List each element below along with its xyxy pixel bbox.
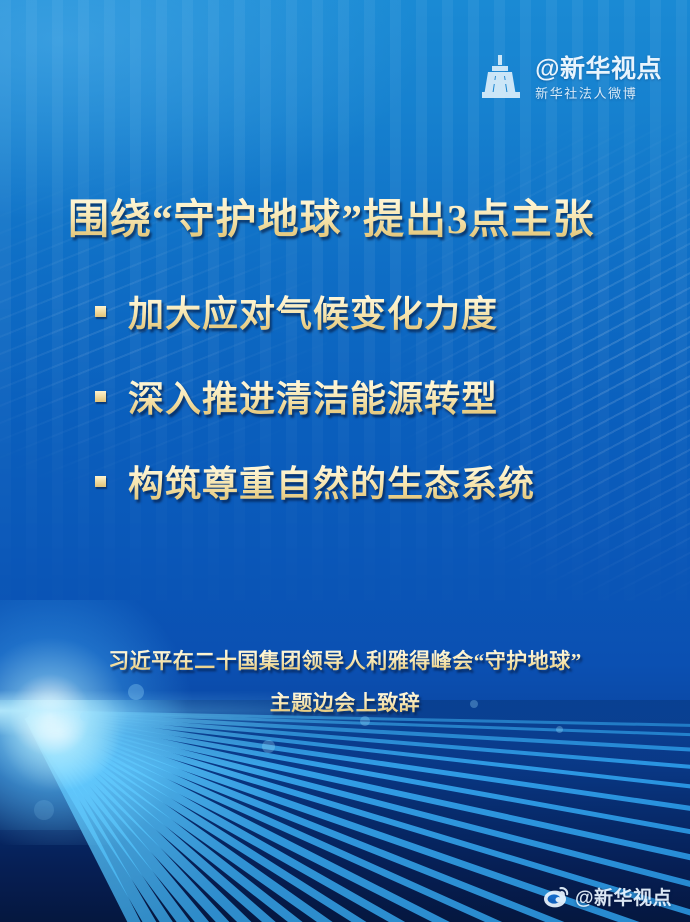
list-item: 加大应对气候变化力度 [95, 288, 615, 334]
caption-block: 习近平在二十国集团领导人利雅得峰会“守护地球” 主题边会上致辞 [0, 645, 690, 729]
square-bullet-icon [95, 476, 106, 487]
logo-text-block: @新华视点 新华社法人微博 [535, 57, 662, 100]
bullet-list: 加大应对气候变化力度 深入推进清洁能源转型 构筑尊重自然的生态系统 [95, 288, 615, 543]
xinhua-tower-logo-icon [474, 52, 526, 104]
list-item-label: 构筑尊重自然的生态系统 [128, 455, 535, 507]
weibo-logo-icon [543, 884, 569, 910]
weibo-account-label: @新华视点 [575, 883, 672, 910]
list-item: 深入推进清洁能源转型 [95, 373, 615, 419]
list-item-label: 加大应对气候变化力度 [128, 285, 498, 337]
square-bullet-icon [95, 391, 106, 402]
poster-canvas: @新华视点 新华社法人微博 围绕“守护地球”提出3点主张 加大应对气候变化力度 … [0, 0, 690, 922]
caption-line-1: 习近平在二十国集团领导人利雅得峰会“守护地球” [0, 645, 690, 675]
account-subtitle: 新华社法人微博 [535, 87, 662, 100]
square-bullet-icon [95, 306, 106, 317]
xinhua-logo-block[interactable]: @新华视点 新华社法人微博 [474, 52, 662, 104]
weibo-watermark[interactable]: @新华视点 [543, 883, 672, 910]
account-name: @新华视点 [535, 57, 662, 82]
caption-line-2: 主题边会上致辞 [0, 687, 690, 717]
page-title: 围绕“守护地球”提出3点主张 [68, 185, 595, 245]
list-item-label: 深入推进清洁能源转型 [128, 370, 498, 422]
list-item: 构筑尊重自然的生态系统 [95, 458, 615, 504]
